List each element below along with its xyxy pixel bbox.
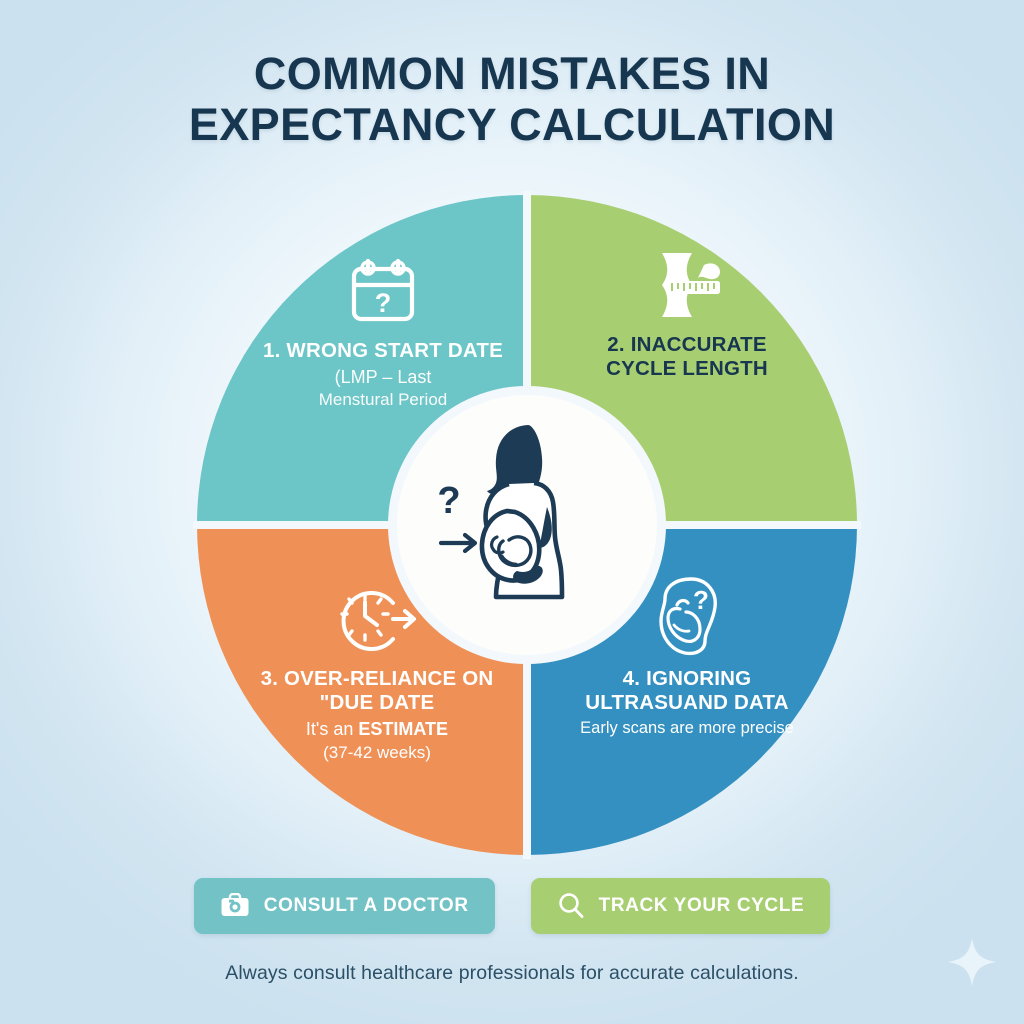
action-button-row: CONSULT A DOCTOR TRACK YOUR CYCLE <box>0 878 1024 934</box>
wheel-hub: ? <box>397 395 657 655</box>
pregnant-woman-silhouette-illustration: ? <box>397 395 657 655</box>
quadrant-3-title-line-1: 3. OVER-RELIANCE ON <box>227 667 527 691</box>
waist-measuring-tape-icon <box>644 247 730 323</box>
quadrant-3-subtitle-prefix: It's an <box>306 719 358 739</box>
quadrant-3-subtitle-emphasis: ESTIMATE <box>358 719 448 739</box>
page-title: COMMON MISTAKES IN EXPECTANCY CALCULATIO… <box>0 48 1024 151</box>
svg-text:?: ? <box>375 288 392 318</box>
footer-disclaimer: Always consult healthcare professionals … <box>0 962 1024 985</box>
consult-a-doctor-label: CONSULT A DOCTOR <box>264 895 469 917</box>
hub-question-mark: ? <box>437 480 460 522</box>
fetus-ultrasound-question-icon: ? <box>647 573 727 657</box>
consult-a-doctor-button[interactable]: CONSULT A DOCTOR <box>194 878 495 934</box>
svg-text:?: ? <box>693 585 709 615</box>
quadrant-3-title-line-2: "DUE DATE <box>227 691 527 715</box>
track-your-cycle-label: TRACK YOUR CYCLE <box>599 895 805 917</box>
sparkle-icon <box>946 936 998 988</box>
medical-bag-icon <box>220 893 250 919</box>
quadrant-2-title-line-1: 2. INACCURATE <box>537 333 837 357</box>
title-line-2: EXPECTANCY CALCULATION <box>0 99 1024 150</box>
magnifier-icon <box>557 892 585 920</box>
hub-arrow-icon <box>441 535 475 551</box>
quadrant-1-title: 1. WRONG START DATE <box>233 339 533 363</box>
infographic-canvas: COMMON MISTAKES IN EXPECTANCY CALCULATIO… <box>0 0 1024 1024</box>
quadrant-1-subtitle-line-1: (LMP – Last <box>233 367 533 388</box>
track-your-cycle-button[interactable]: TRACK YOUR CYCLE <box>531 878 831 934</box>
calendar-question-icon: ? <box>346 255 420 329</box>
quadrant-2-title-line-2: CYCLE LENGTH <box>537 357 837 381</box>
quadrant-3-subtitle-line-2: (37-42 weeks) <box>227 743 527 763</box>
quadrant-4-title-line-1: 4. IGNORING <box>537 667 837 691</box>
quadrant-3-subtitle-line-1: It's an ESTIMATE <box>227 719 527 740</box>
quadrant-2-content: 2. INACCURATE CYCLE LENGTH <box>537 247 837 381</box>
title-line-1: COMMON MISTAKES IN <box>0 48 1024 99</box>
quadrant-4-title-line-2: ULTRASUAND DATA <box>537 691 837 715</box>
quadrant-4-subtitle: Early scans are more precise <box>537 719 837 738</box>
quadrant-1-content: ? 1. WRONG START DATE (LMP – Last Menstu… <box>233 255 533 410</box>
